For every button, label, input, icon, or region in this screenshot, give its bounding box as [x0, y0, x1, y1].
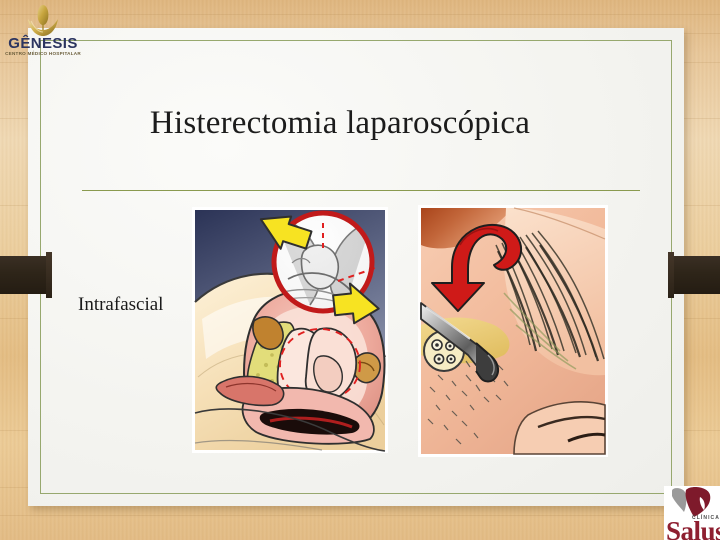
title-divider — [82, 190, 640, 191]
slide-stage: Histerectomia laparoscópica Intrafascial — [0, 0, 720, 540]
intrafascial-anatomy-illustration — [192, 207, 388, 453]
wood-grain-line — [0, 14, 720, 15]
genesis-wordmark: GÊNESIS — [2, 35, 84, 52]
decorative-bracket-right — [668, 256, 720, 294]
leaf-chalice-icon — [26, 2, 60, 38]
decorative-bracket-left — [0, 256, 52, 294]
wood-grain-line — [0, 515, 720, 516]
page-title: Histerectomia laparoscópica — [60, 105, 620, 142]
salus-wordmark: Salus — [666, 516, 720, 540]
genesis-logo: GÊNESIS CENTRO MÉDICO HOSPITALAR — [2, 2, 84, 60]
bracket-cap — [668, 252, 674, 298]
laparoscopic-dissection-illustration — [418, 205, 608, 457]
heart-shield-icon — [670, 487, 712, 517]
technique-label: Intrafascial — [78, 294, 163, 316]
salus-logo: CLÍNICA Salus — [664, 486, 720, 540]
bracket-cap — [46, 252, 52, 298]
genesis-tagline: CENTRO MÉDICO HOSPITALAR — [2, 51, 84, 56]
